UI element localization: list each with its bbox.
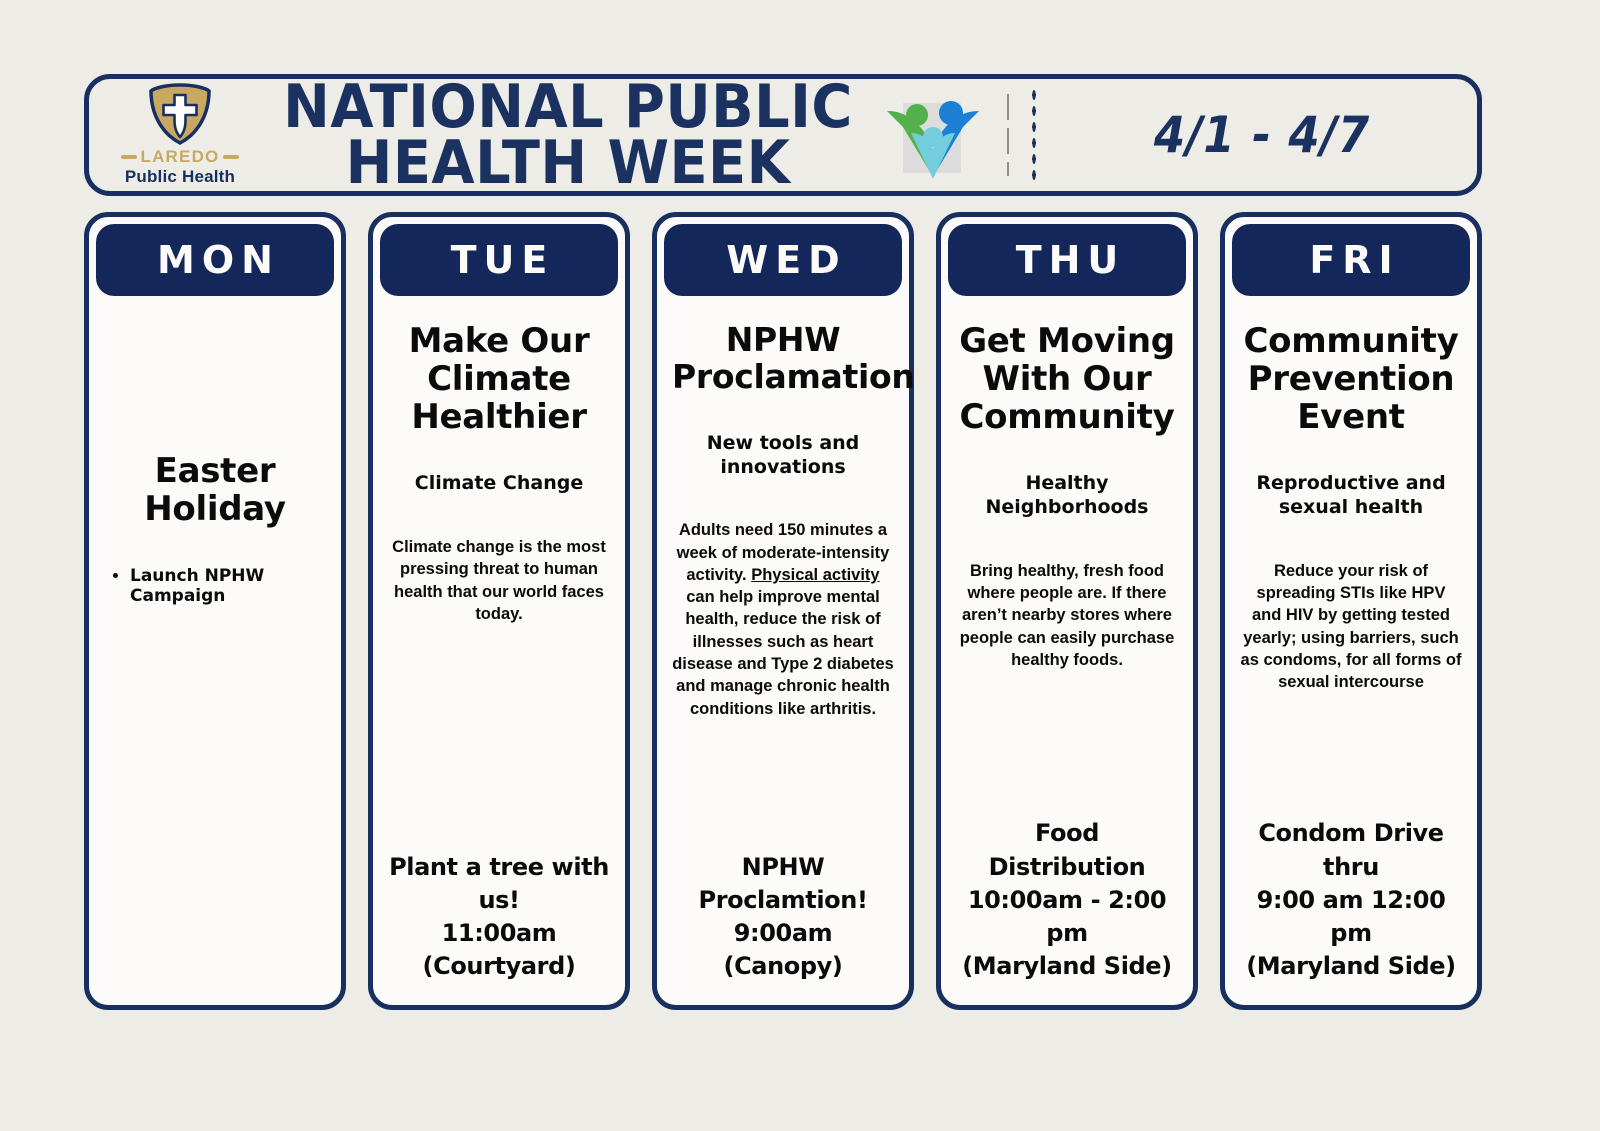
day-footer-line: Food Distribution xyxy=(956,817,1178,883)
day-headline-fri: Community Prevention Event xyxy=(1240,322,1462,436)
date-range: 4/1 - 4/7 xyxy=(1069,106,1456,164)
laredo-word: LAREDO xyxy=(141,147,220,167)
nphw-people-logo xyxy=(881,89,985,181)
day-footer-line: (Maryland Side) xyxy=(1240,950,1462,983)
day-footer-fri: Condom Drive thru 9:00 am 12:00 pm (Mary… xyxy=(1240,817,1462,983)
day-subhead-thu: Healthy Neighborhoods xyxy=(956,472,1178,520)
header-bar: LAREDO Public Health NATIONAL PUBLIC HEA… xyxy=(84,74,1482,196)
day-footer-thu: Food Distribution 10:00am - 2:00 pm (Mar… xyxy=(956,817,1178,983)
shield-icon xyxy=(147,83,213,145)
day-body-text-tue: Climate change is the most pressing thre… xyxy=(388,536,610,625)
day-label-wed: WED xyxy=(664,224,902,296)
day-footer-line: (Canopy) xyxy=(672,950,894,983)
day-card-mon: MON Easter Holiday Launch NPHW Campaign xyxy=(84,212,346,1010)
page-title: NATIONAL PUBLIC HEALTH WEEK xyxy=(281,79,856,192)
day-label-tue: TUE xyxy=(380,224,618,296)
laredo-rule-right xyxy=(223,155,239,159)
day-body-text-wed: Adults need 150 minutes a week of modera… xyxy=(672,519,894,719)
nphw-calendar-poster: LAREDO Public Health NATIONAL PUBLIC HEA… xyxy=(0,0,1600,1131)
day-headline-thu: Get Moving With Our Community xyxy=(956,322,1178,436)
day-body-fri: Community Prevention Event Reproductive … xyxy=(1232,296,1470,1005)
day-footer-wed: NPHW Proclamtion! 9:00am (Canopy) xyxy=(672,851,894,983)
dotted-divider xyxy=(1031,87,1037,183)
day-label-mon: MON xyxy=(96,224,334,296)
day-footer-line: Plant a tree with us! xyxy=(388,851,610,917)
day-footer-line: NPHW Proclamtion! xyxy=(672,851,894,917)
day-body-mon: Easter Holiday Launch NPHW Campaign xyxy=(96,296,334,1005)
day-columns: MON Easter Holiday Launch NPHW Campaign … xyxy=(84,212,1482,1012)
day-footer-line: 9:00am xyxy=(672,917,894,950)
day-headline-tue: Make Our Climate Healthier xyxy=(388,322,610,436)
day-body-text-fri: Reduce your risk of spreading STIs like … xyxy=(1240,560,1462,694)
title-wrap: NATIONAL PUBLIC HEALTH WEEK xyxy=(255,79,881,192)
day-body-text-thu: Bring healthy, fresh food where people a… xyxy=(956,560,1178,671)
day-body-tue: Make Our Climate Healthier Climate Chang… xyxy=(380,296,618,1005)
list-item: Launch NPHW Campaign xyxy=(130,566,326,606)
day-subhead-wed: New tools and innovations xyxy=(672,432,894,480)
day-bullets-mon: Launch NPHW Campaign xyxy=(104,566,326,606)
day-headline-mon: Easter Holiday xyxy=(104,452,326,528)
day-card-thu: THU Get Moving With Our Community Health… xyxy=(936,212,1198,1010)
day-card-wed: WED NPHW Proclamation New tools and inno… xyxy=(652,212,914,1010)
body-text-post: can help improve mental health, reduce t… xyxy=(672,588,894,717)
day-footer-line: Condom Drive thru xyxy=(1240,817,1462,883)
day-subhead-tue: Climate Change xyxy=(388,472,610,496)
day-card-tue: TUE Make Our Climate Healthier Climate C… xyxy=(368,212,630,1010)
day-body-wed: NPHW Proclamation New tools and innovati… xyxy=(664,296,902,1005)
day-body-thu: Get Moving With Our Community Healthy Ne… xyxy=(948,296,1186,1005)
physical-activity-link[interactable]: Physical activity xyxy=(751,566,879,584)
laredo-rule-left xyxy=(121,155,137,159)
day-label-fri: FRI xyxy=(1232,224,1470,296)
laredo-public-health-logo: LAREDO Public Health xyxy=(105,81,255,189)
day-label-thu: THU xyxy=(948,224,1186,296)
day-subhead-fri: Reproductive and sexual health xyxy=(1240,472,1462,520)
thin-divider xyxy=(1007,94,1009,176)
day-footer-tue: Plant a tree with us! 11:00am (Courtyard… xyxy=(388,851,610,983)
day-footer-line: (Maryland Side) xyxy=(956,950,1178,983)
day-footer-line: 9:00 am 12:00 pm xyxy=(1240,884,1462,950)
day-card-fri: FRI Community Prevention Event Reproduct… xyxy=(1220,212,1482,1010)
day-footer-line: (Courtyard) xyxy=(388,950,610,983)
public-health-word: Public Health xyxy=(125,167,235,187)
day-headline-wed: NPHW Proclamation xyxy=(672,322,894,396)
day-footer-line: 11:00am xyxy=(388,917,610,950)
laredo-wordmark: LAREDO xyxy=(105,147,255,167)
day-footer-line: 10:00am - 2:00 pm xyxy=(956,884,1178,950)
day-bullets-wrap-mon: Launch NPHW Campaign xyxy=(104,566,326,606)
